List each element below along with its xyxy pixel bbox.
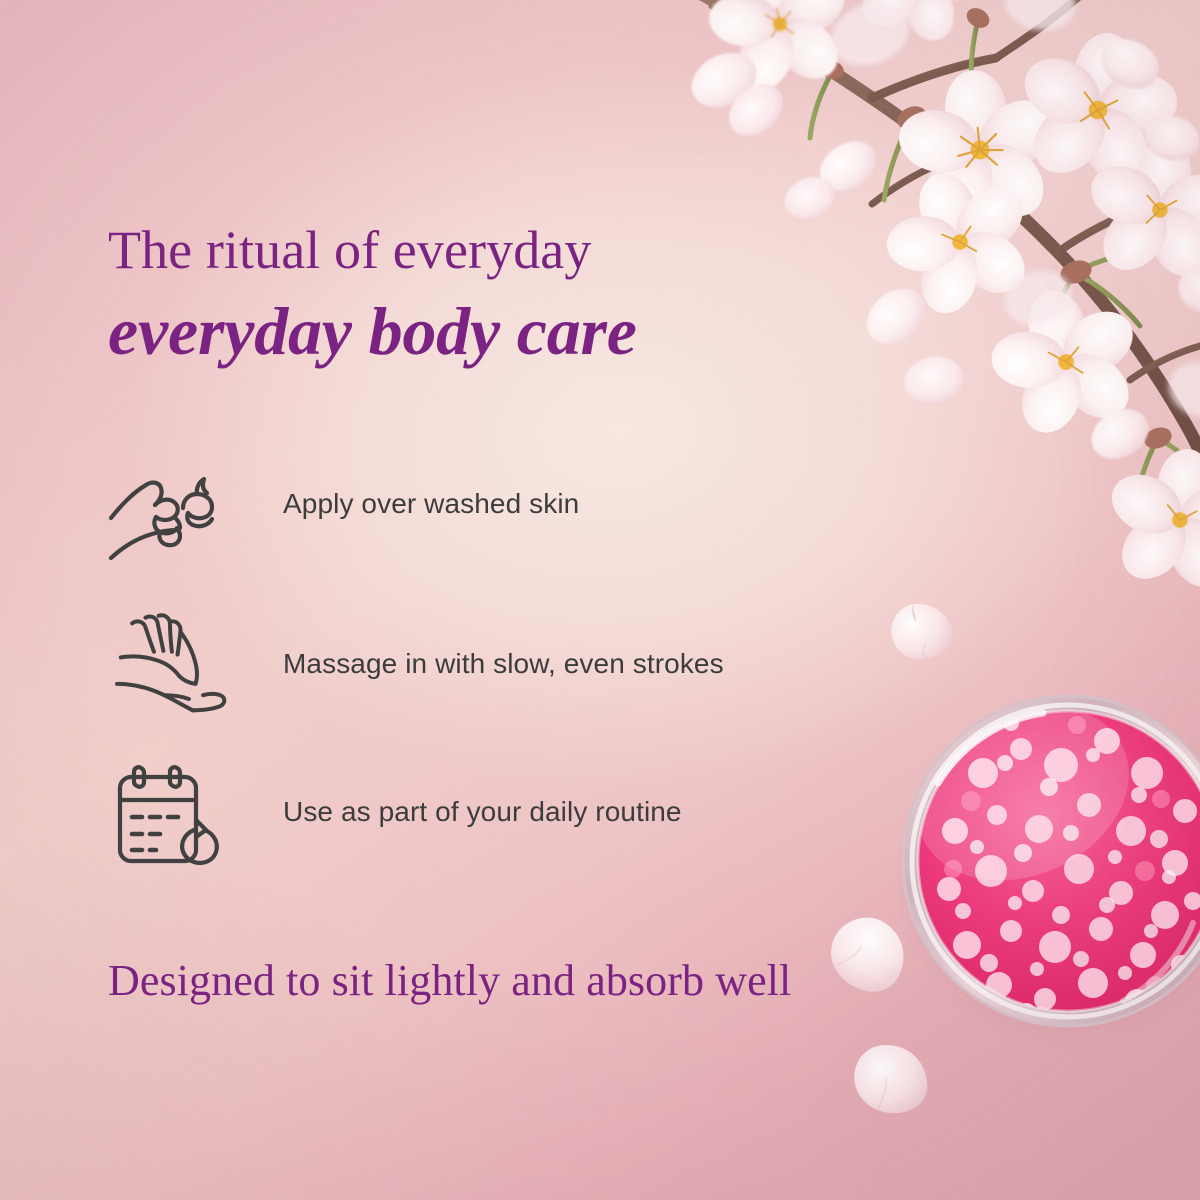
- list-item: Apply over washed skin: [108, 456, 868, 606]
- steps-list: Apply over washed skin: [108, 456, 868, 908]
- text-content: The ritual of everyday everyday body car…: [0, 0, 900, 1200]
- step-label: Apply over washed skin: [283, 488, 579, 520]
- tagline: Designed to sit lightly and absorb well: [108, 955, 791, 1006]
- two-hands-massage-icon: [108, 612, 232, 716]
- step-label: Massage in with slow, even strokes: [283, 648, 724, 680]
- hand-with-cream-dollop-icon: [108, 462, 232, 566]
- headline-line-2: everyday body care: [108, 296, 637, 367]
- list-item: Massage in with slow, even strokes: [108, 606, 868, 758]
- step-label: Use as part of your daily routine: [283, 796, 682, 828]
- headline-line-1: The ritual of everyday: [108, 222, 591, 278]
- poster-canvas: The ritual of everyday everyday body car…: [0, 0, 1200, 1200]
- calendar-refresh-routine-icon: [108, 764, 232, 868]
- list-item: Use as part of your daily routine: [108, 758, 868, 908]
